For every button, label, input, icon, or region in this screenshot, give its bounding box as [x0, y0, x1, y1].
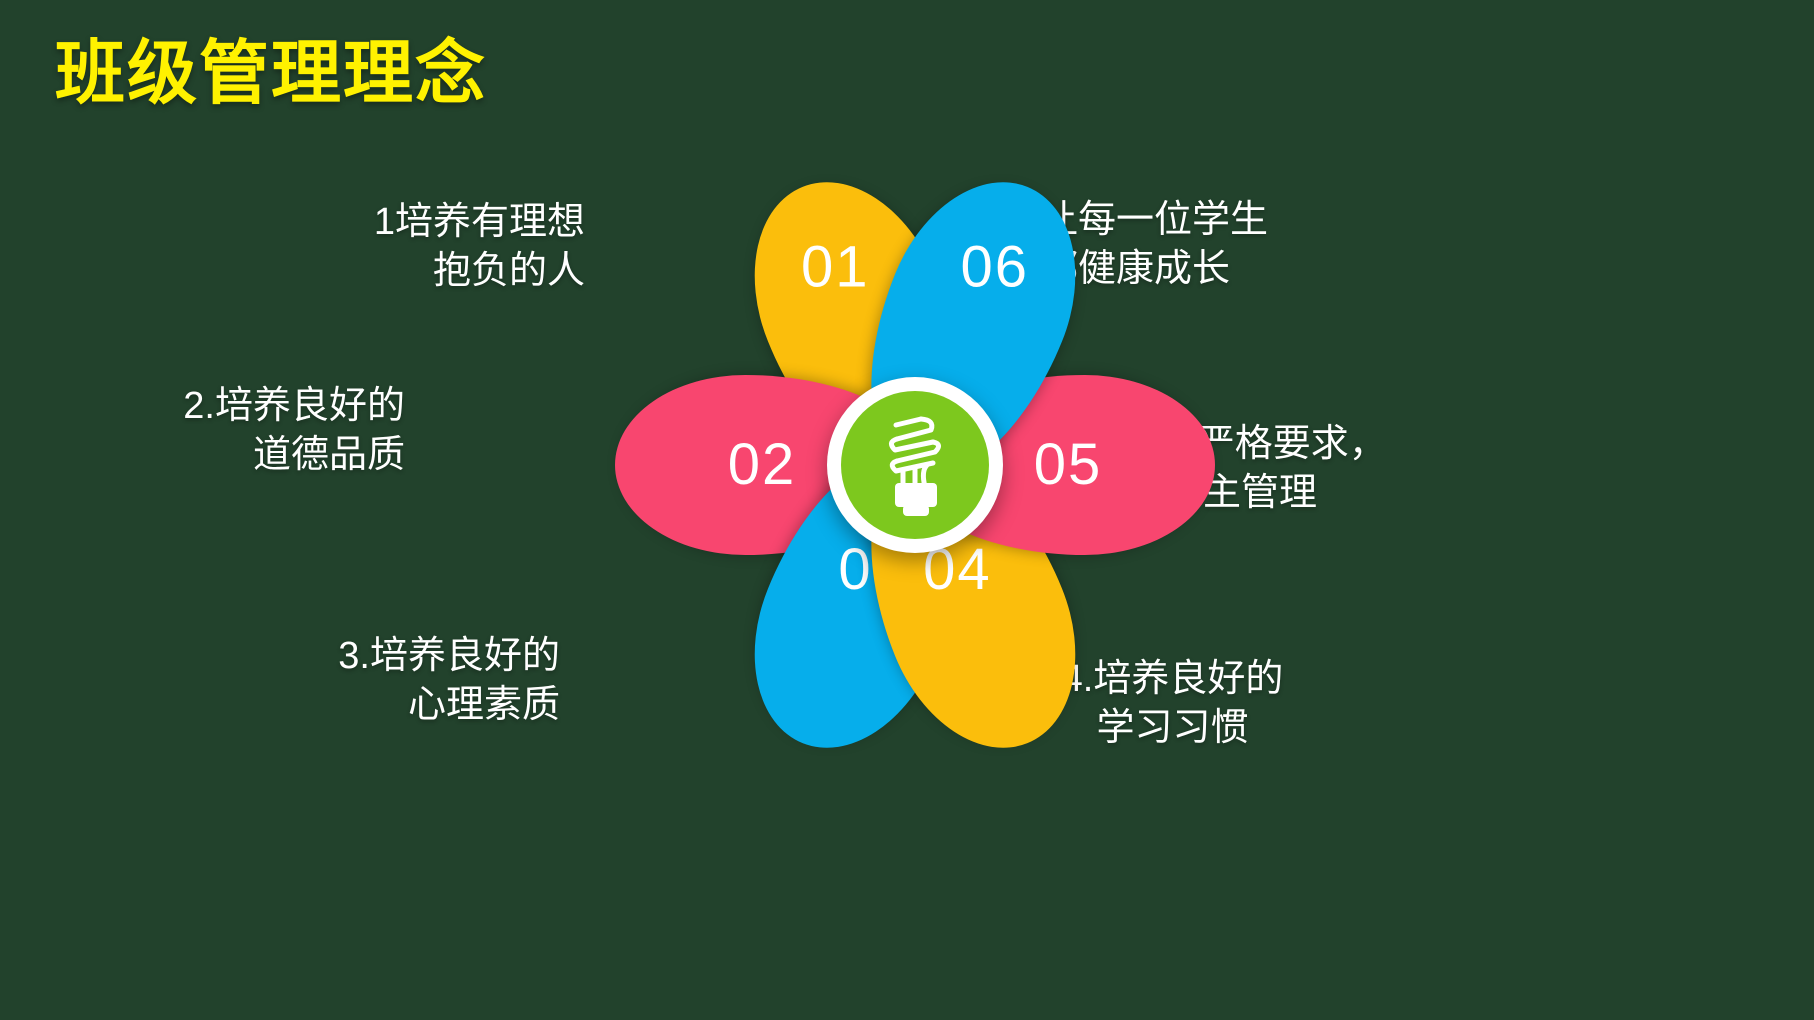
center-hub[interactable] — [827, 377, 1003, 553]
petal-number-05: 05 — [978, 436, 1158, 494]
page-title: 班级管理理念 — [55, 35, 487, 112]
lightbulb-cfl-icon — [869, 411, 961, 519]
callout-label-1: 1培养有理想 抱负的人 — [315, 198, 585, 297]
petal-number-02: 02 — [672, 436, 852, 494]
callout-label-2: 2.培养良好的 道德品质 — [120, 382, 405, 481]
callout-label-3: 3.培养良好的 心理素质 — [275, 632, 560, 731]
callout-label-6: 让每一位学生 都健康成长 — [1040, 196, 1340, 295]
slide-canvas: 班级管理理念 1培养有理想 抱负的人 2.培养良好的 道德品质 3.培养良好的 … — [0, 0, 1814, 1020]
center-hub-circle — [841, 391, 989, 539]
petal-number-06: 06 — [905, 239, 1085, 297]
